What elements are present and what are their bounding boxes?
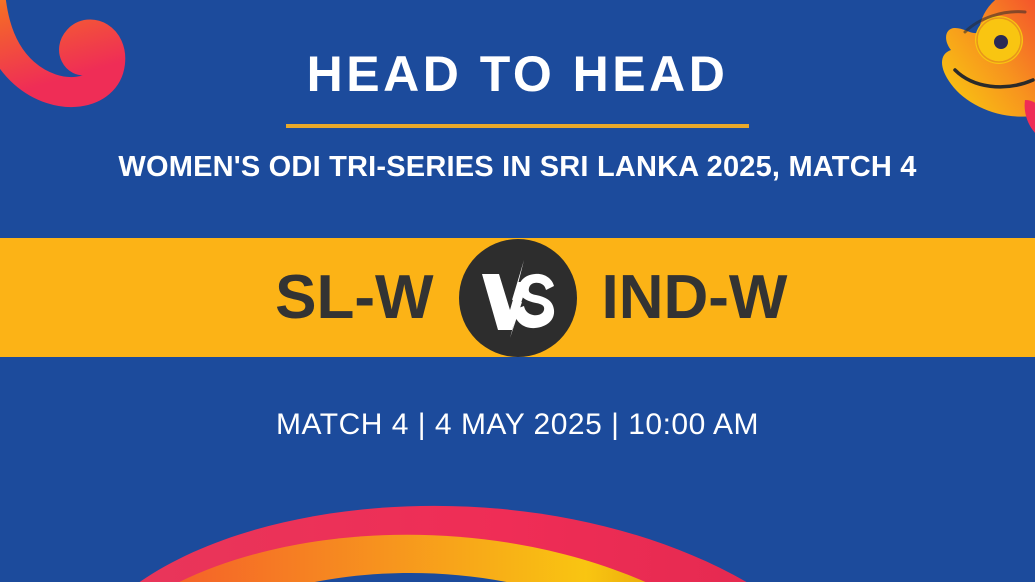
away-team-name: IND-W	[578, 267, 863, 329]
matchup-row: SL-W IND-W	[0, 238, 1035, 357]
banner-header: HEAD TO HEAD WOMEN'S ODI TRI-SERIES IN S…	[0, 0, 1035, 182]
versus-badge	[458, 238, 578, 358]
page-title: HEAD TO HEAD	[0, 0, 1035, 99]
series-subtitle: WOMEN'S ODI TRI-SERIES IN SRI LANKA 2025…	[0, 128, 1035, 182]
head-to-head-banner: HEAD TO HEAD WOMEN'S ODI TRI-SERIES IN S…	[0, 0, 1035, 582]
match-info-line: MATCH 4 | 4 MAY 2025 | 10:00 AM	[0, 408, 1035, 442]
bottom-arcs-icon	[0, 462, 1035, 582]
versus-badge-icon	[458, 238, 578, 358]
home-team-name: SL-W	[173, 267, 458, 329]
